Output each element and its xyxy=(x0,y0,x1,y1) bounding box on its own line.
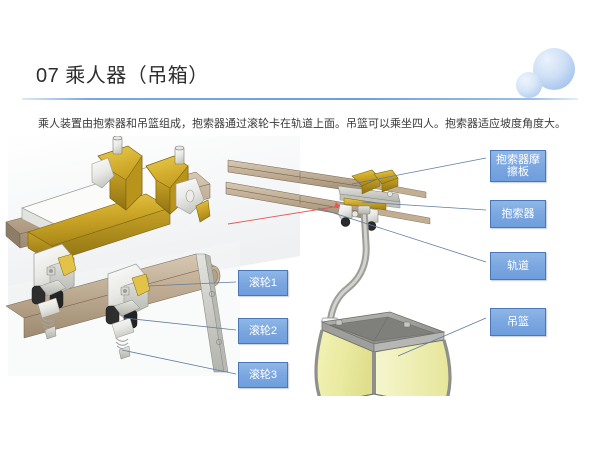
callout-roller-3[interactable]: 滚轮3 xyxy=(238,362,288,388)
callout-roller-1[interactable]: 滚轮1 xyxy=(238,270,288,296)
callout-roller-1-label: 滚轮1 xyxy=(249,277,277,290)
callout-roller-2[interactable]: 滚轮2 xyxy=(238,318,288,344)
callout-track[interactable]: 轨道 xyxy=(490,252,546,280)
callout-grip[interactable]: 抱索器 xyxy=(490,200,546,228)
callout-cabin-label: 吊篮 xyxy=(507,316,529,329)
decorative-small-circle-icon xyxy=(516,72,542,98)
title-divider xyxy=(22,98,578,100)
page-title: 07 乘人器（吊箱） xyxy=(36,59,209,88)
cabin xyxy=(316,312,450,396)
callout-roller-3-label: 滚轮3 xyxy=(249,369,277,382)
decorative-large-circle-icon xyxy=(533,48,575,90)
callout-grip-label: 抱索器 xyxy=(502,208,535,221)
callout-grip-friction-plate-label: 抱索器摩擦板 xyxy=(491,154,545,178)
callout-track-label: 轨道 xyxy=(507,260,529,273)
callout-grip-friction-plate[interactable]: 抱索器摩擦板 xyxy=(490,150,546,182)
subtitle-text: 乘人装置由抱索器和吊篮组成，抱索器通过滚轮卡在轨道上面。吊篮可以乘坐四人。抱索器… xyxy=(38,116,578,132)
callout-roller-2-label: 滚轮2 xyxy=(249,325,277,338)
callout-cabin[interactable]: 吊篮 xyxy=(490,308,546,336)
slide: 07 乘人器（吊箱） 乘人装置由抱索器和吊篮组成，抱索器通过滚轮卡在轨道上面。吊… xyxy=(0,0,600,450)
